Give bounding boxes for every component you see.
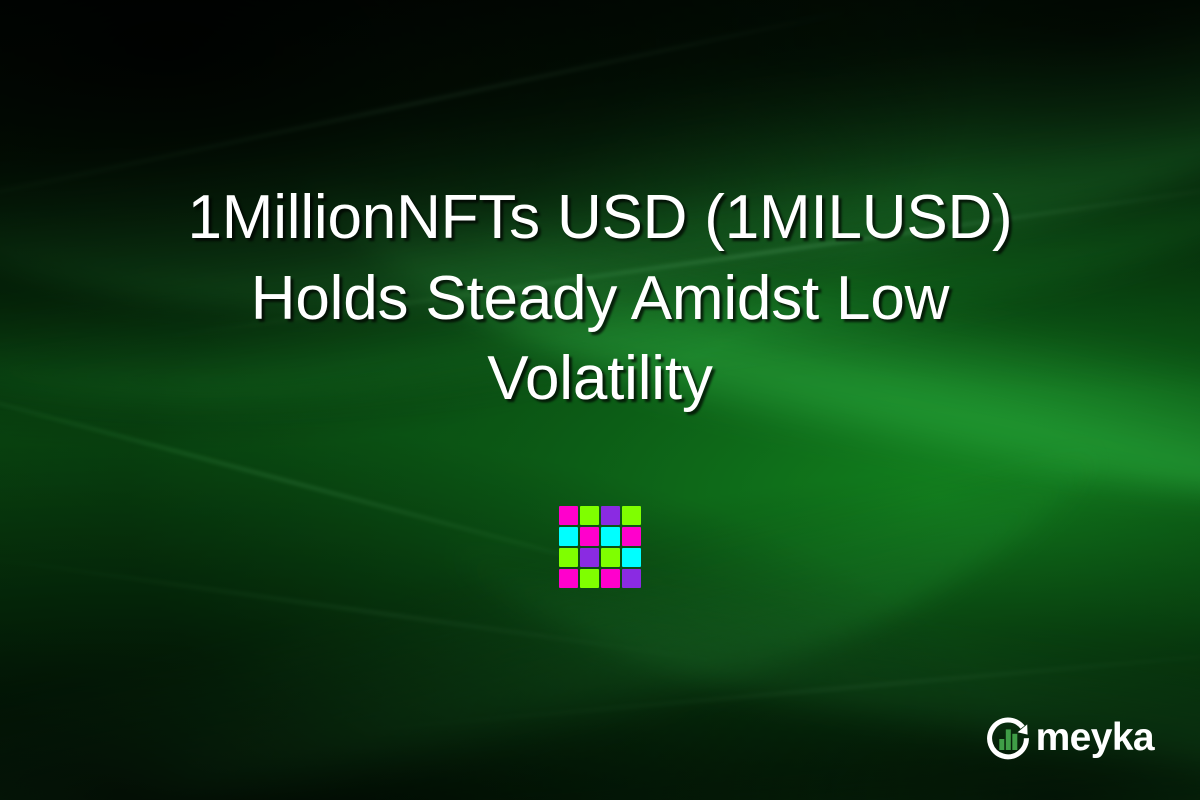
brand-lockup: meyka: [984, 714, 1154, 762]
nft-grid-cell-8: [559, 548, 578, 567]
logo-bar-1: [999, 739, 1004, 750]
nft-grid-cell-2: [601, 506, 620, 525]
nft-grid-cell-3: [622, 506, 641, 525]
nft-grid-cell-11: [622, 548, 641, 567]
meyka-logo-icon: [984, 714, 1032, 762]
banner-content: 1MillionNFTs USD (1MILUSD) Holds Steady …: [0, 0, 1200, 800]
nft-grid-cell-1: [580, 506, 599, 525]
page-title: 1MillionNFTs USD (1MILUSD) Holds Steady …: [0, 178, 1200, 420]
nft-grid-cell-15: [622, 569, 641, 588]
nft-pixel-grid-icon: [559, 506, 641, 588]
nft-grid-cell-5: [580, 527, 599, 546]
nft-grid-cell-6: [601, 527, 620, 546]
logo-bar-3: [1012, 734, 1017, 750]
brand-name: meyka: [1036, 718, 1154, 759]
nft-grid-cell-4: [559, 527, 578, 546]
nft-grid-cell-10: [601, 548, 620, 567]
nft-grid-cell-0: [559, 506, 578, 525]
nft-grid-cell-14: [601, 569, 620, 588]
nft-grid-cell-7: [622, 527, 641, 546]
logo-bar-2: [1005, 729, 1010, 750]
nft-grid-cell-12: [559, 569, 578, 588]
nft-grid-cell-9: [580, 548, 599, 567]
nft-grid-cell-13: [580, 569, 599, 588]
article-banner: 1MillionNFTs USD (1MILUSD) Holds Steady …: [0, 0, 1200, 800]
